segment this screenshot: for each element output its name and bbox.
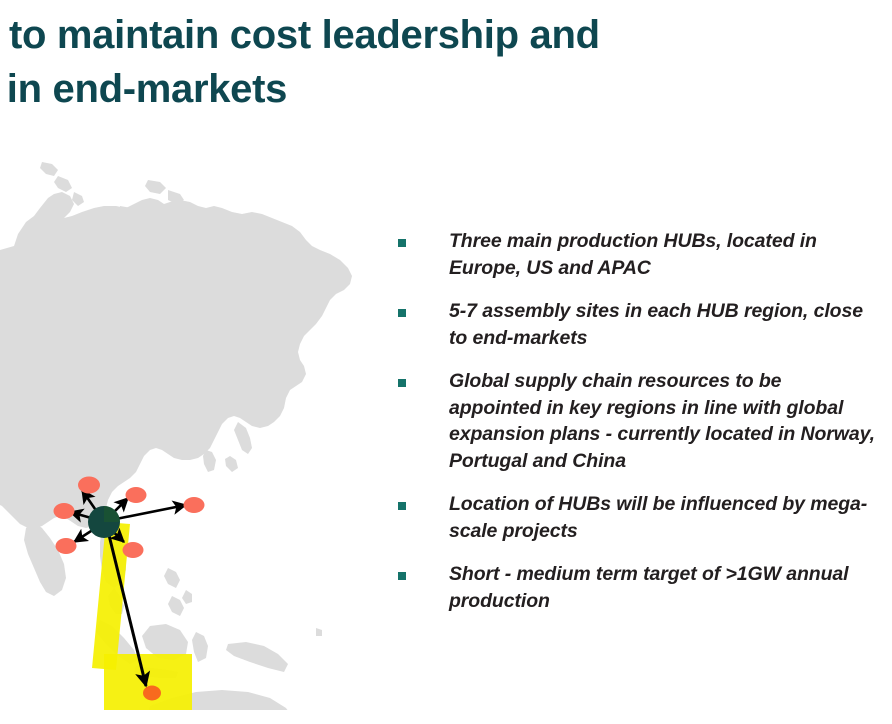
sulawesi-landmass bbox=[192, 632, 208, 662]
arctic-island-2 bbox=[54, 176, 72, 192]
western-australia-highlight bbox=[104, 654, 192, 710]
bullet-square-icon bbox=[398, 502, 406, 510]
landmass-group bbox=[0, 162, 364, 710]
bullet-square-icon bbox=[398, 572, 406, 580]
assembly-site-dot-east[interactable] bbox=[184, 497, 205, 513]
assembly-site-dot-west[interactable] bbox=[54, 503, 75, 519]
bullet-text-3: Global supply chain resources to be appo… bbox=[449, 368, 878, 474]
list-item: Global supply chain resources to be appo… bbox=[398, 368, 878, 474]
arctic-island-4 bbox=[145, 180, 166, 194]
world-map-graphic bbox=[0, 150, 400, 710]
list-item: Three main production HUBs, located in E… bbox=[398, 228, 878, 281]
philippines-landmass-3 bbox=[182, 590, 192, 604]
philippines-landmass-2 bbox=[168, 596, 184, 616]
assembly-site-dot-southwest[interactable] bbox=[56, 538, 77, 554]
world-map-panel bbox=[0, 150, 400, 710]
bullet-square-icon bbox=[398, 309, 406, 317]
new-guinea-landmass bbox=[226, 642, 288, 672]
japan-south-landmass bbox=[225, 456, 238, 472]
arctic-island-1 bbox=[40, 162, 58, 176]
pacific-island-1 bbox=[316, 628, 322, 636]
assembly-site-dot-southeast[interactable] bbox=[123, 542, 144, 558]
page-title: o to maintain cost leadership and y in e… bbox=[0, 8, 814, 116]
assembly-site-dot-north[interactable] bbox=[78, 477, 100, 494]
list-item: Location of HUBs will be influenced by m… bbox=[398, 491, 878, 544]
eurasia-landmass bbox=[0, 192, 352, 528]
japan-landmass bbox=[234, 422, 252, 454]
page-title-line-1: o to maintain cost leadership and bbox=[0, 8, 814, 62]
slide-canvas: o to maintain cost leadership and y in e… bbox=[0, 0, 892, 724]
page-title-line-2: y in end-markets bbox=[0, 62, 814, 116]
list-item: 5-7 assembly sites in each HUB region, c… bbox=[398, 298, 878, 351]
list-item: Short - medium term target of >1GW annua… bbox=[398, 561, 878, 614]
assembly-site-dot-australia[interactable] bbox=[143, 686, 161, 701]
bullet-text-2: 5-7 assembly sites in each HUB region, c… bbox=[449, 298, 878, 351]
bullet-list: Three main production HUBs, located in E… bbox=[398, 228, 878, 631]
bullet-square-icon bbox=[398, 379, 406, 387]
bullet-square-icon bbox=[398, 239, 406, 247]
korea-landmass bbox=[203, 450, 216, 472]
philippines-landmass-1 bbox=[164, 568, 180, 588]
india-landmass bbox=[24, 522, 66, 596]
assembly-site-dot-northeast[interactable] bbox=[126, 487, 147, 503]
bullet-text-4: Location of HUBs will be influenced by m… bbox=[449, 491, 878, 544]
bullet-text-5: Short - medium term target of >1GW annua… bbox=[449, 561, 878, 614]
bullet-text-1: Three main production HUBs, located in E… bbox=[449, 228, 878, 281]
